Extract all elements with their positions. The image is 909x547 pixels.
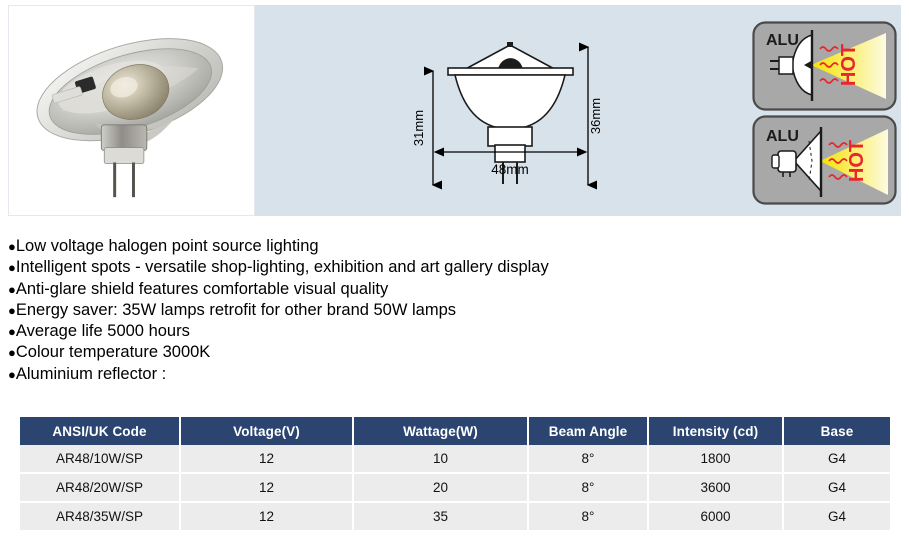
badge-alu-label: ALU	[766, 128, 799, 145]
column-header-base: Base	[783, 417, 890, 445]
cell-wattage: 10	[353, 445, 528, 473]
cell-wattage: 20	[353, 473, 528, 502]
cell-voltage: 12	[180, 473, 353, 502]
feature-text: Low voltage halogen point source lightin…	[16, 236, 319, 256]
column-header-intensity: Intensity (cd)	[648, 417, 783, 445]
cell-code: AR48/35W/SP	[20, 502, 180, 530]
cell-wattage: 35	[353, 502, 528, 530]
feature-item: ● Anti-glare shield features comfortable…	[8, 279, 708, 300]
spec-table: ANSI/UK Code Voltage(V) Wattage(W) Beam …	[20, 417, 890, 530]
badge-hot-label: HOT	[846, 140, 868, 182]
lamp-dimension-drawing: 31mm 36mm 48mm	[255, 5, 745, 216]
badge-alu-hot-pin-lamp: HOT ALU	[752, 21, 897, 111]
cell-code: AR48/20W/SP	[20, 473, 180, 502]
bullet-icon: ●	[8, 301, 16, 321]
feature-item: ● Energy saver: 35W lamps retrofit for o…	[8, 300, 708, 321]
cell-intensity: 1800	[648, 445, 783, 473]
bullet-icon: ●	[8, 343, 16, 363]
product-photo	[9, 6, 254, 215]
bullet-icon: ●	[8, 280, 16, 300]
dimension-height-reflector: 31mm	[411, 110, 426, 146]
dimension-height-total: 36mm	[588, 98, 603, 134]
technical-drawing-panel: 31mm 36mm 48mm	[255, 5, 745, 216]
cell-intensity: 3600	[648, 473, 783, 502]
feature-item: ● Colour temperature 3000K	[8, 342, 708, 363]
bullet-icon: ●	[8, 322, 16, 342]
column-header-ansi-uk-code: ANSI/UK Code	[20, 417, 180, 445]
feature-text: Aluminium reflector :	[16, 364, 166, 384]
cell-base: G4	[783, 473, 890, 502]
bullet-icon: ●	[8, 365, 16, 385]
dimension-diameter: 48mm	[491, 162, 529, 177]
spec-table-container: ANSI/UK Code Voltage(V) Wattage(W) Beam …	[20, 417, 890, 530]
badge-alu-label: ALU	[766, 32, 799, 49]
column-header-beam-angle: Beam Angle	[528, 417, 648, 445]
feature-item: ● Average life 5000 hours	[8, 321, 708, 342]
cell-base: G4	[783, 502, 890, 530]
feature-text: Energy saver: 35W lamps retrofit for oth…	[16, 300, 456, 320]
feature-item: ● Intelligent spots - versatile shop-lig…	[8, 257, 708, 278]
cell-voltage: 12	[180, 502, 353, 530]
column-header-wattage: Wattage(W)	[353, 417, 528, 445]
table-row: AR48/10W/SP 12 10 8° 1800 G4	[20, 445, 890, 473]
column-header-voltage: Voltage(V)	[180, 417, 353, 445]
badge-hot-label: HOT	[838, 44, 860, 86]
product-banner: 31mm 36mm 48mm	[8, 5, 901, 216]
cell-beam-angle: 8°	[528, 502, 648, 530]
feature-text: Intelligent spots - versatile shop-light…	[16, 257, 549, 277]
table-row: AR48/35W/SP 12 35 8° 6000 G4	[20, 502, 890, 530]
cell-code: AR48/10W/SP	[20, 445, 180, 473]
product-photo-panel	[8, 5, 255, 216]
feature-text: Average life 5000 hours	[16, 321, 190, 341]
table-row: AR48/20W/SP 12 20 8° 3600 G4	[20, 473, 890, 502]
feature-list: ● Low voltage halogen point source light…	[8, 236, 708, 385]
badge-alu-hot-screw-lamp: HOT ALU	[752, 115, 897, 205]
table-header-row: ANSI/UK Code Voltage(V) Wattage(W) Beam …	[20, 417, 890, 445]
cell-beam-angle: 8°	[528, 473, 648, 502]
bullet-icon: ●	[8, 237, 16, 257]
bullet-icon: ●	[8, 258, 16, 278]
feature-item: ● Aluminium reflector :	[8, 364, 708, 385]
cell-beam-angle: 8°	[528, 445, 648, 473]
feature-item: ● Low voltage halogen point source light…	[8, 236, 708, 257]
feature-text: Anti-glare shield features comfortable v…	[16, 279, 388, 299]
cell-voltage: 12	[180, 445, 353, 473]
cell-intensity: 6000	[648, 502, 783, 530]
cell-base: G4	[783, 445, 890, 473]
feature-text: Colour temperature 3000K	[16, 342, 210, 362]
feature-badges: HOT ALU	[748, 11, 901, 211]
